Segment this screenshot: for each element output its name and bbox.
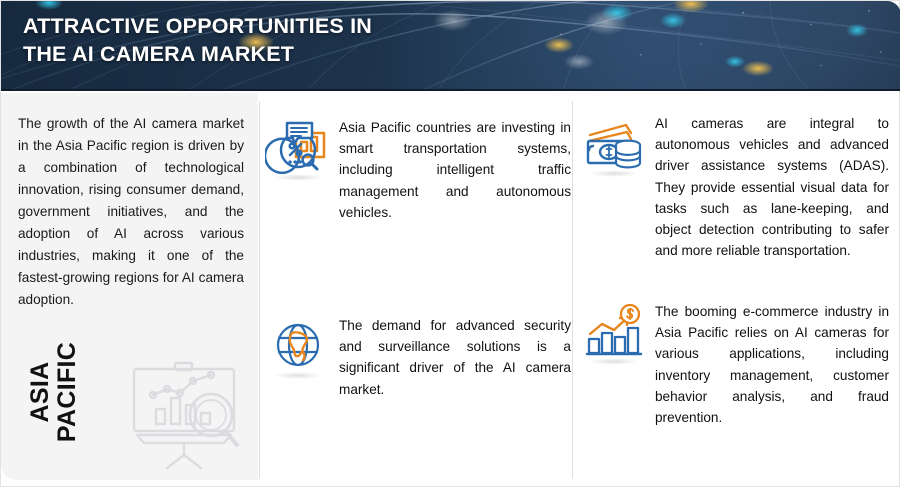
- right-column: AI cameras are integral to autonomous ve…: [579, 93, 891, 483]
- content-block: AI cameras are integral to autonomous ve…: [581, 113, 889, 261]
- block-text: AI cameras are integral to autonomous ve…: [647, 113, 889, 261]
- icon-shadow: [273, 372, 323, 379]
- presentation-chart-magnifier-icon: [123, 355, 245, 473]
- icon-shadow: [273, 174, 323, 181]
- region-label: ASIA PACIFIC: [27, 332, 81, 452]
- growth-barchart-dollar-icon: [581, 301, 647, 367]
- middle-column: Asia Pacific countries are investing in …: [263, 93, 571, 483]
- icon-shadow: [589, 358, 639, 365]
- infographic-poster: ATTRACTIVE OPPORTUNITIES IN THE AI CAMER…: [0, 0, 900, 487]
- globe-icon: [265, 315, 331, 381]
- money-cash-coins-icon: [581, 113, 647, 179]
- content-block: The demand for advanced security and sur…: [265, 315, 571, 400]
- content-block: The booming e-commerce industry in Asia …: [581, 301, 889, 428]
- left-summary-panel: The growth of the AI camera market in th…: [1, 93, 258, 480]
- content-block: Asia Pacific countries are investing in …: [265, 117, 571, 223]
- intro-paragraph: The growth of the AI camera market in th…: [18, 113, 244, 311]
- page-title: ATTRACTIVE OPPORTUNITIES IN THE AI CAMER…: [23, 12, 443, 69]
- analytics-percent-barchart-icon: [265, 117, 331, 183]
- block-text: Asia Pacific countries are investing in …: [331, 117, 571, 223]
- header-banner: ATTRACTIVE OPPORTUNITIES IN THE AI CAMER…: [1, 1, 900, 91]
- column-divider-1: [259, 101, 260, 479]
- block-text: The booming e-commerce industry in Asia …: [647, 301, 889, 428]
- icon-shadow: [589, 170, 639, 177]
- column-divider-2: [572, 101, 573, 479]
- block-text: The demand for advanced security and sur…: [331, 315, 571, 400]
